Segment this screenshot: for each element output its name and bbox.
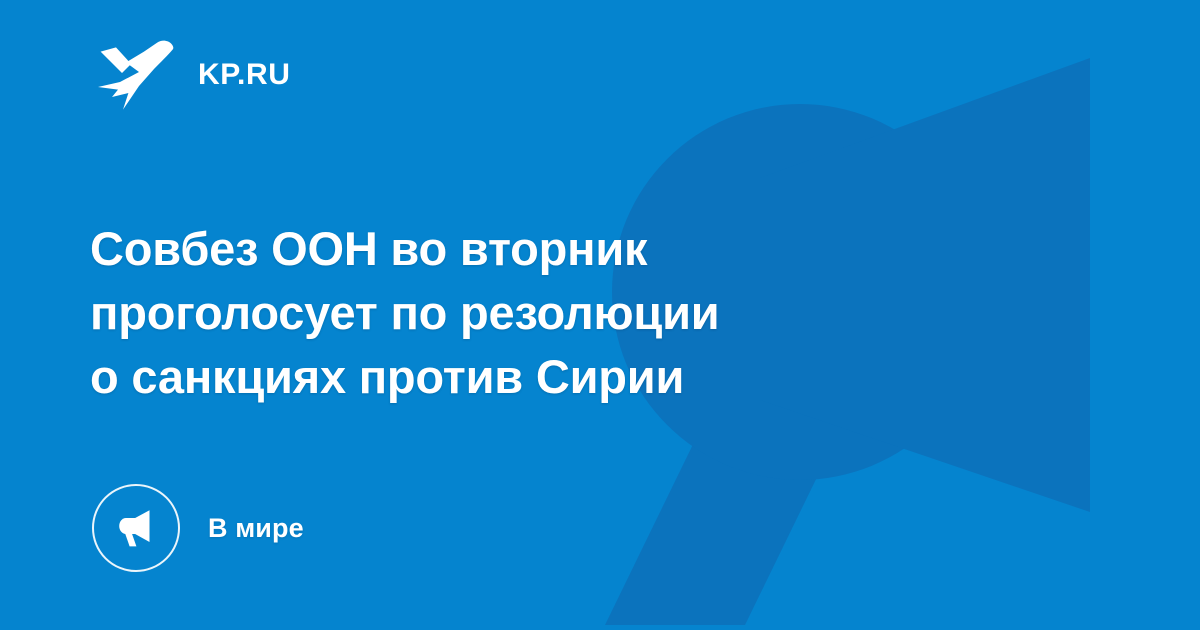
swallow-bird-logo-icon (98, 39, 176, 111)
category-badge[interactable]: В мире (92, 484, 304, 572)
article-share-card: KP.RU Совбез ООН во вторник проголосует … (0, 0, 1200, 630)
megaphone-icon (92, 484, 180, 572)
category-label: В мире (208, 515, 304, 542)
headline-line-1: Совбез ООН во вторник (90, 217, 920, 281)
headline-line-3: о санкциях против Сирии (90, 345, 920, 409)
headline-line-2: проголосует по резолюции (90, 281, 920, 345)
brand-name[interactable]: KP.RU (198, 60, 290, 90)
site-header: KP.RU (98, 36, 290, 114)
page-title: Совбез ООН во вторник проголосует по рез… (90, 217, 920, 409)
